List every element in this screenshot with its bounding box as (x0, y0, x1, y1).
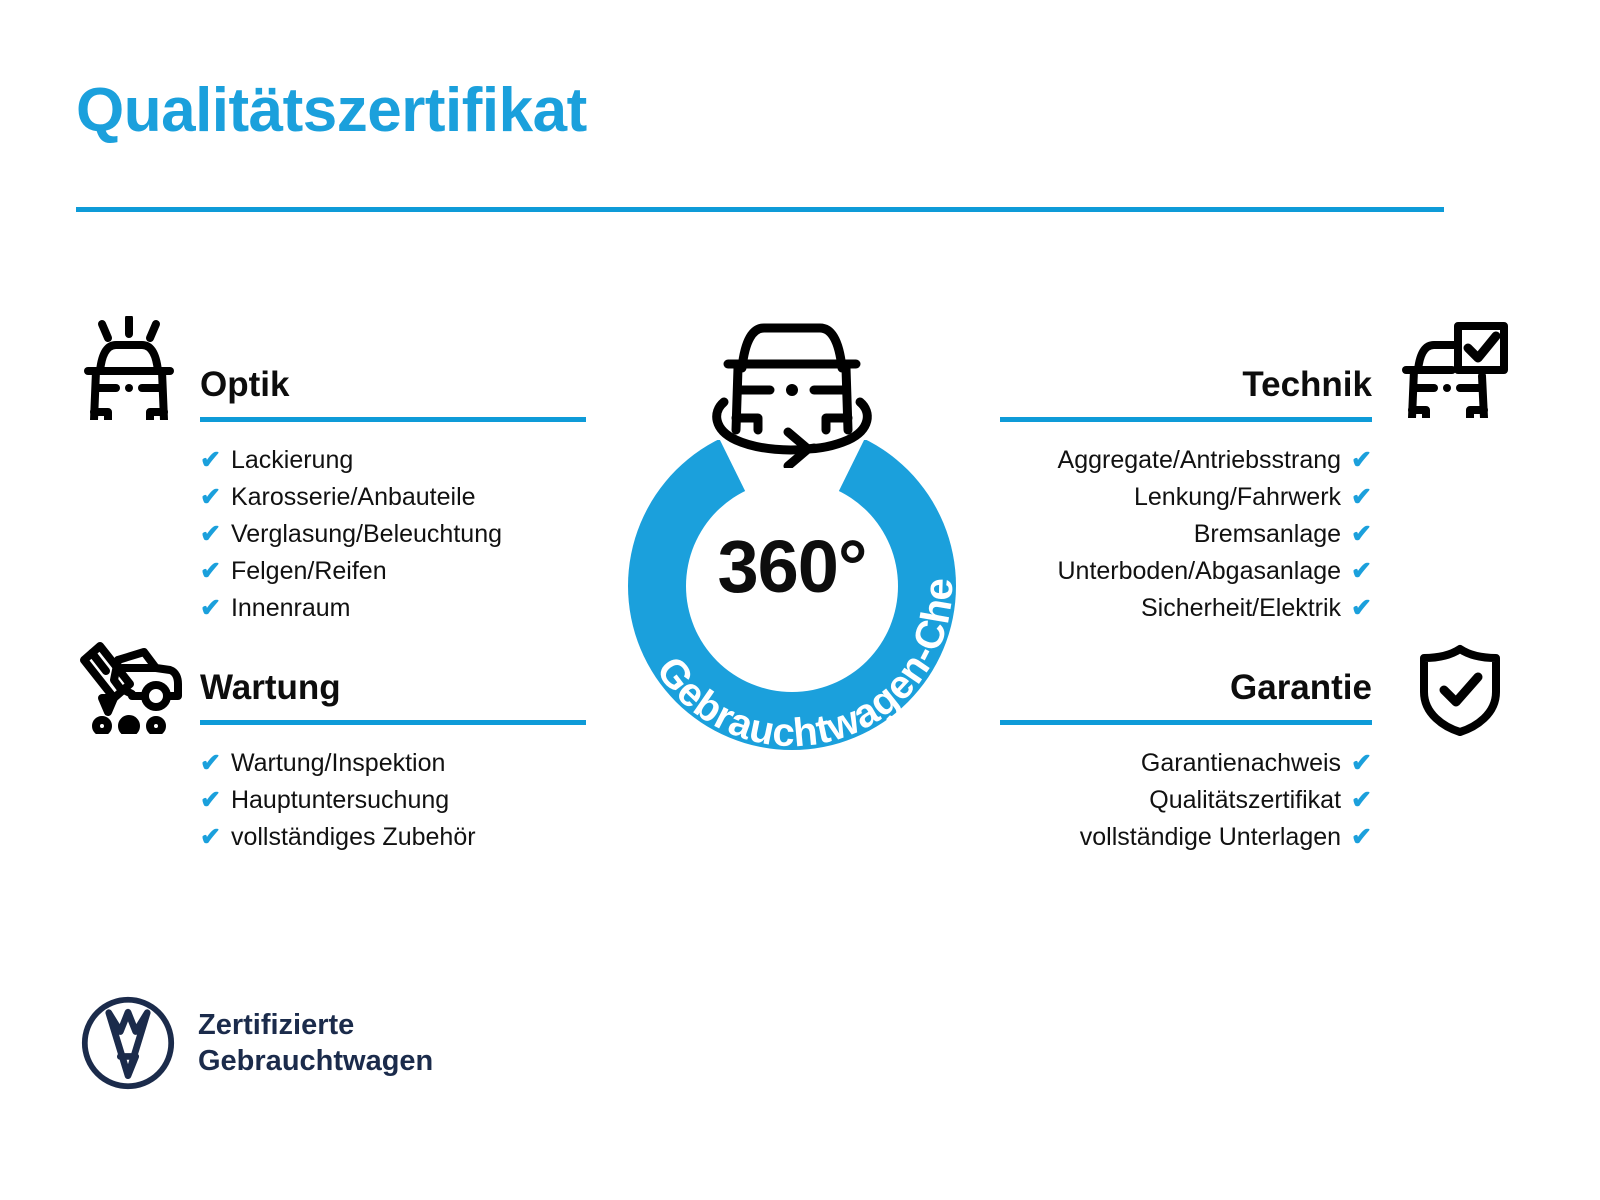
section-optik-list: ✔ Lackierung ✔ Karosserie/Anbauteile ✔ V… (200, 442, 586, 627)
section-garantie-title: Garantie (1000, 663, 1372, 713)
footer-brand: Zertifizierte Gebrauchtwagen (80, 995, 433, 1091)
car-rotate-icon (696, 306, 888, 468)
section-wartung-list: ✔ Wartung/Inspektion ✔ Hauptuntersuchung… (200, 745, 586, 856)
check-icon: ✔ (200, 819, 221, 856)
list-item: ✔ vollständiges Zubehör (200, 819, 586, 856)
list-item: ✔ Lackierung (200, 442, 586, 479)
check-icon: ✔ (1351, 516, 1372, 553)
check-icon: ✔ (1351, 553, 1372, 590)
list-item-label: Wartung/Inspektion (231, 745, 445, 782)
section-wartung-title: Wartung (200, 663, 586, 713)
list-item-label: Bremsanlage (1194, 516, 1341, 553)
section-technik-title: Technik (1000, 360, 1372, 410)
list-item: Garantienachweis ✔ (1000, 745, 1372, 782)
car-front-lights-icon (74, 316, 184, 420)
list-item-label: vollständige Unterlagen (1080, 819, 1341, 856)
check-icon: ✔ (1351, 442, 1372, 479)
check-icon: ✔ (200, 590, 221, 627)
footer-line-2: Gebrauchtwagen (198, 1043, 433, 1079)
badge-center-label: 360° (596, 524, 988, 609)
check-icon: ✔ (200, 782, 221, 819)
list-item-label: vollständiges Zubehör (231, 819, 476, 856)
certificate-page: Qualitätszertifikat Optik (0, 0, 1600, 1200)
section-optik-header: Optik (200, 360, 586, 416)
list-item-label: Felgen/Reifen (231, 553, 387, 590)
section-technik: Technik Aggregate/Antriebsstrang ✔ Lenku… (1000, 360, 1372, 627)
list-item: Qualitätszertifikat ✔ (1000, 782, 1372, 819)
section-technik-divider (1000, 417, 1372, 422)
list-item: ✔ Hauptuntersuchung (200, 782, 586, 819)
section-garantie-header: Garantie (1000, 663, 1372, 719)
list-item: Bremsanlage ✔ (1000, 516, 1372, 553)
list-item-label: Lackierung (231, 442, 353, 479)
list-item: Unterboden/Abgasanlage ✔ (1000, 553, 1372, 590)
list-item: ✔ Karosserie/Anbauteile (200, 479, 586, 516)
list-item-label: Hauptuntersuchung (231, 782, 449, 819)
page-title: Qualitätszertifikat (76, 78, 587, 143)
list-item: ✔ Wartung/Inspektion (200, 745, 586, 782)
section-technik-header: Technik (1000, 360, 1372, 416)
list-item: ✔ Felgen/Reifen (200, 553, 586, 590)
list-item: vollständige Unterlagen ✔ (1000, 819, 1372, 856)
list-item-label: Aggregate/Antriebsstrang (1058, 442, 1342, 479)
check-icon: ✔ (200, 442, 221, 479)
list-item: ✔ Innenraum (200, 590, 586, 627)
check-icon: ✔ (1351, 782, 1372, 819)
list-item-label: Verglasung/Beleuchtung (231, 516, 502, 553)
car-service-pen-icon (74, 638, 184, 734)
check-icon: ✔ (1351, 590, 1372, 627)
list-item-label: Qualitätszertifikat (1149, 782, 1341, 819)
section-garantie: Garantie Garantienachweis ✔ Qualitätszer… (1000, 663, 1372, 856)
check-icon: ✔ (1351, 819, 1372, 856)
footer-line-1: Zertifizierte (198, 1007, 433, 1043)
check-icon: ✔ (200, 553, 221, 590)
section-wartung-divider (200, 720, 586, 725)
volkswagen-logo (80, 995, 176, 1091)
list-item: Aggregate/Antriebsstrang ✔ (1000, 442, 1372, 479)
list-item-label: Garantienachweis (1141, 745, 1341, 782)
section-technik-list: Aggregate/Antriebsstrang ✔ Lenkung/Fahrw… (1000, 442, 1372, 627)
section-optik-title: Optik (200, 360, 586, 410)
list-item-label: Sicherheit/Elektrik (1141, 590, 1341, 627)
shield-check-icon (1414, 644, 1506, 736)
list-item-label: Lenkung/Fahrwerk (1134, 479, 1341, 516)
section-garantie-list: Garantienachweis ✔ Qualitätszertifikat ✔… (1000, 745, 1372, 856)
list-item: Sicherheit/Elektrik ✔ (1000, 590, 1372, 627)
check-icon: ✔ (200, 516, 221, 553)
check-icon: ✔ (1351, 745, 1372, 782)
list-item: Lenkung/Fahrwerk ✔ (1000, 479, 1372, 516)
title-divider (76, 207, 1444, 212)
car-front-checkbox-icon (1400, 322, 1510, 418)
section-wartung: Wartung ✔ Wartung/Inspektion ✔ Hauptunte… (200, 663, 586, 856)
footer-text: Zertifizierte Gebrauchtwagen (198, 1007, 433, 1079)
check-icon: ✔ (200, 745, 221, 782)
list-item-label: Innenraum (231, 590, 351, 627)
section-optik: Optik ✔ Lackierung ✔ Karosserie/Anbautei… (200, 360, 586, 627)
section-garantie-divider (1000, 720, 1372, 725)
check-icon: ✔ (200, 479, 221, 516)
section-optik-divider (200, 417, 586, 422)
gebrauchtwagen-check-badge: Gebrauchtwagen-Check 360° (596, 306, 988, 768)
check-icon: ✔ (1351, 479, 1372, 516)
section-wartung-header: Wartung (200, 663, 586, 719)
list-item-label: Karosserie/Anbauteile (231, 479, 476, 516)
list-item: ✔ Verglasung/Beleuchtung (200, 516, 586, 553)
list-item-label: Unterboden/Abgasanlage (1057, 553, 1341, 590)
